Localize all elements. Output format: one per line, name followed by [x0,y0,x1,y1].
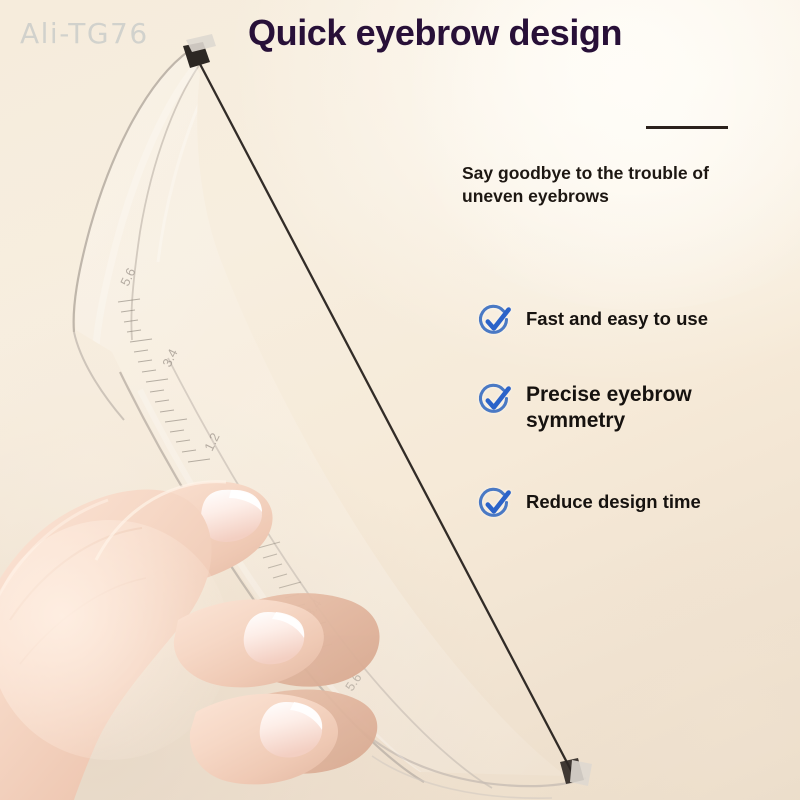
feature-item: Reduce design time [476,485,701,523]
ruler-scale-lower [258,542,332,648]
index-finger [96,482,273,590]
middle-finger [174,599,324,687]
subtitle-text: Say goodbye to the trouble of uneven eye… [462,162,772,208]
circle-check-icon [476,381,514,419]
title-divider [646,126,728,129]
svg-text:5.6: 5.6 [117,265,138,288]
circle-check-icon [476,485,514,523]
ruler-bottom-clip [560,758,592,786]
ruler-scale-numbers-upper: 5.6 3.4 1.2 [117,265,222,453]
feature-label: Precise eyebrow symmetry [526,381,692,433]
promo-image: 5.6 3.4 1.2 1.2 3.4 5.6 [0,0,800,800]
palm [0,489,230,800]
feature-item: Precise eyebrow symmetry [476,381,692,433]
svg-text:1.2: 1.2 [201,430,222,453]
svg-text:3.4: 3.4 [302,596,325,619]
ruler-scale-numbers-lower: 1.2 3.4 5.6 [252,506,365,693]
feature-item: Fast and easy to use [476,302,708,340]
svg-text:5.6: 5.6 [342,670,365,693]
lower-finger [190,694,338,785]
feature-label: Fast and easy to use [526,302,708,331]
svg-text:1.2: 1.2 [252,506,275,529]
svg-text:3.4: 3.4 [159,346,180,369]
page-title: Quick eyebrow design [248,12,622,54]
ruler-scale-upper [118,299,210,462]
ruler-top-clip [183,34,216,68]
watermark: Ali-TG76 [20,17,149,50]
background-shade-right [520,540,800,800]
feature-label: Reduce design time [526,485,701,514]
hand-back-fingers [228,593,380,774]
circle-check-icon [476,302,514,340]
background-shade-left [0,250,320,670]
